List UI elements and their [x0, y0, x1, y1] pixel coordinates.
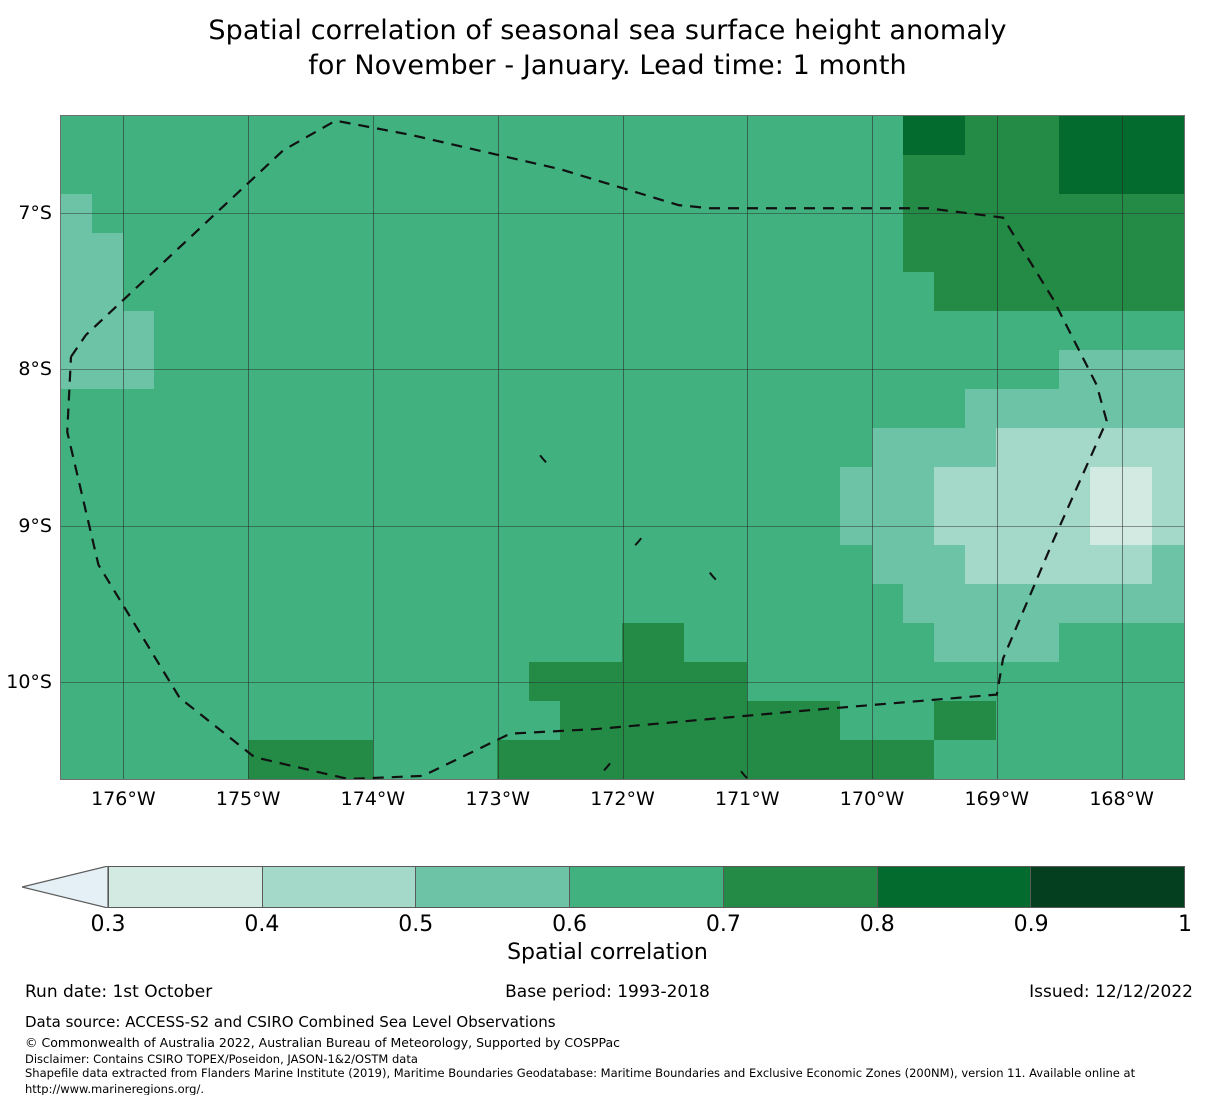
heatmap-cell: [934, 428, 966, 468]
heatmap-cell: [92, 194, 124, 234]
heatmap-cell: [123, 623, 155, 663]
heatmap-cell: [341, 194, 373, 234]
heatmap-cell: [840, 116, 872, 156]
heatmap-cell: [154, 506, 186, 546]
heatmap-cell: [154, 740, 186, 780]
heatmap-cell: [747, 467, 779, 507]
heatmap-cell: [1028, 701, 1060, 741]
heatmap-cell: [996, 233, 1028, 273]
heatmap-cell: [747, 350, 779, 390]
heatmap-cell: [1059, 467, 1091, 507]
heatmap-cell: [965, 662, 997, 702]
heatmap-cell: [778, 428, 810, 468]
heatmap-cell: [809, 311, 841, 351]
heatmap-cell: [217, 311, 249, 351]
heatmap-cell: [61, 389, 93, 429]
heatmap-cell: [248, 584, 280, 624]
heatmap-cell: [1028, 662, 1060, 702]
heatmap-cell: [903, 740, 935, 780]
heatmap-cell: [185, 467, 217, 507]
heatmap-cell: [653, 467, 685, 507]
heatmap-cell: [1028, 272, 1060, 312]
heatmap-cell: [185, 701, 217, 741]
heatmap-cell: [1059, 155, 1091, 195]
heatmap-cell: [123, 662, 155, 702]
heatmap-cell: [809, 584, 841, 624]
map-plot-area[interactable]: [60, 115, 1185, 780]
heatmap-cell: [248, 311, 280, 351]
heatmap-cell: [653, 155, 685, 195]
heatmap-cell: [1121, 623, 1153, 663]
heatmap-cell: [248, 506, 280, 546]
heatmap-cell: [404, 428, 436, 468]
heatmap-cell: [560, 623, 592, 663]
heatmap-cell: [154, 584, 186, 624]
heatmap-cell: [840, 467, 872, 507]
heatmap-cell: [591, 545, 623, 585]
heatmap-cell: [747, 272, 779, 312]
heatmap-cell: [872, 389, 904, 429]
heatmap-cell: [903, 545, 935, 585]
heatmap-cell: [248, 701, 280, 741]
heatmap-cell: [778, 350, 810, 390]
heatmap-cell: [123, 233, 155, 273]
y-tick-label: 7°S: [0, 202, 52, 224]
heatmap-cell: [684, 155, 716, 195]
heatmap-cell: [404, 116, 436, 156]
heatmap-cell: [903, 467, 935, 507]
heatmap-cell: [996, 662, 1028, 702]
heatmap-cell: [778, 194, 810, 234]
heatmap-cell: [1028, 428, 1060, 468]
heatmap-cell: [1090, 428, 1122, 468]
heatmap-cell: [591, 701, 623, 741]
heatmap-cell: [872, 311, 904, 351]
heatmap-cell: [1028, 350, 1060, 390]
colorbar-band: [877, 867, 1031, 907]
heatmap-cell: [653, 194, 685, 234]
heatmap-cell: [840, 506, 872, 546]
heatmap-cell: [716, 467, 748, 507]
heatmap-cell: [341, 233, 373, 273]
heatmap-cell: [466, 545, 498, 585]
heatmap-cell: [1028, 506, 1060, 546]
heatmap-cell: [1152, 584, 1184, 624]
heatmap-cell: [778, 623, 810, 663]
heatmap-cell: [1059, 662, 1091, 702]
heatmap-cell: [310, 662, 342, 702]
heatmap-cell: [497, 194, 529, 234]
heatmap-cell: [154, 623, 186, 663]
heatmap-cell: [310, 701, 342, 741]
heatmap-cell: [684, 701, 716, 741]
heatmap-cell: [965, 350, 997, 390]
heatmap-cell: [404, 584, 436, 624]
heatmap-cell: [123, 116, 155, 156]
heatmap-cell: [185, 389, 217, 429]
heatmap-cell: [872, 584, 904, 624]
heatmap-cell: [778, 272, 810, 312]
heatmap-cell: [965, 389, 997, 429]
heatmap-cell: [996, 584, 1028, 624]
heatmap-cell: [279, 467, 311, 507]
heatmap-cell: [778, 545, 810, 585]
heatmap-cell: [92, 506, 124, 546]
heatmap-cell: [1090, 545, 1122, 585]
heatmap-cell: [560, 194, 592, 234]
heatmap-cell: [497, 467, 529, 507]
heatmap-cell: [934, 467, 966, 507]
heatmap-cell: [61, 155, 93, 195]
heatmap-cell: [529, 233, 561, 273]
heatmap-cell: [903, 350, 935, 390]
heatmap-cell: [809, 662, 841, 702]
heatmap-cell: [747, 311, 779, 351]
heatmap-cell: [466, 350, 498, 390]
heatmap-cell: [123, 155, 155, 195]
heatmap-cell: [747, 545, 779, 585]
heatmap-cell: [154, 701, 186, 741]
heatmap-cell: [185, 155, 217, 195]
heatmap-cell: [622, 701, 654, 741]
heatmap-cell: [934, 662, 966, 702]
heatmap-cell: [248, 116, 280, 156]
heatmap-cell: [217, 623, 249, 663]
heatmap-cell: [872, 506, 904, 546]
heatmap-cell: [123, 311, 155, 351]
heatmap-cell: [466, 194, 498, 234]
heatmap-cell: [1121, 311, 1153, 351]
heatmap-cell: [1028, 389, 1060, 429]
heatmap-cell: [497, 350, 529, 390]
heatmap-cell: [872, 701, 904, 741]
heatmap-cell: [560, 740, 592, 780]
heatmap-cell: [965, 623, 997, 663]
heatmap-cell: [185, 272, 217, 312]
heatmap-cell: [622, 506, 654, 546]
heatmap-cell: [1090, 116, 1122, 156]
heatmap-cell: [591, 311, 623, 351]
colorbar-gradient[interactable]: [108, 866, 1185, 908]
heatmap-cell: [435, 740, 467, 780]
heatmap-cell: [965, 506, 997, 546]
heatmap-cell: [1059, 584, 1091, 624]
heatmap-cell: [1152, 740, 1184, 780]
heatmap-cell: [92, 545, 124, 585]
heatmap-cell: [185, 350, 217, 390]
heatmap-cell: [248, 389, 280, 429]
heatmap-cell: [653, 545, 685, 585]
heatmap-cell: [310, 584, 342, 624]
heatmap-cell: [653, 350, 685, 390]
heatmap-cell: [840, 701, 872, 741]
heatmap-cell: [1059, 740, 1091, 780]
heatmap-cell: [404, 155, 436, 195]
colorbar-band: [569, 867, 723, 907]
correlation-heatmap: [61, 116, 1184, 779]
heatmap-cell: [684, 116, 716, 156]
heatmap-cell: [466, 428, 498, 468]
heatmap-cell: [996, 623, 1028, 663]
heatmap-cell: [497, 545, 529, 585]
heatmap-cell: [1059, 545, 1091, 585]
heatmap-cell: [622, 545, 654, 585]
heatmap-cell: [404, 311, 436, 351]
heatmap-cell: [840, 194, 872, 234]
heatmap-cell: [154, 272, 186, 312]
heatmap-cell: [373, 545, 405, 585]
heatmap-cell: [185, 662, 217, 702]
heatmap-cell: [497, 584, 529, 624]
heatmap-cell: [622, 584, 654, 624]
heatmap-cell: [529, 428, 561, 468]
y-tick-label: 8°S: [0, 358, 52, 380]
heatmap-cell: [1090, 233, 1122, 273]
title-line-2: for November - January. Lead time: 1 mon…: [0, 49, 1215, 84]
heatmap-cell: [965, 116, 997, 156]
heatmap-cell: [684, 233, 716, 273]
heatmap-cell: [341, 428, 373, 468]
heatmap-cell: [778, 701, 810, 741]
heatmap-cell: [404, 389, 436, 429]
heatmap-cell: [684, 272, 716, 312]
heatmap-cell: [778, 233, 810, 273]
heatmap-cell: [809, 545, 841, 585]
heatmap-cell: [716, 428, 748, 468]
heatmap-cell: [591, 740, 623, 780]
heatmap-cell: [684, 623, 716, 663]
heatmap-cell: [934, 155, 966, 195]
heatmap-cell: [404, 272, 436, 312]
heatmap-cell: [653, 701, 685, 741]
heatmap-cell: [248, 272, 280, 312]
heatmap-cell: [529, 311, 561, 351]
heatmap-cell: [1090, 194, 1122, 234]
heatmap-cell: [996, 467, 1028, 507]
heatmap-cell: [778, 311, 810, 351]
heatmap-cell: [1152, 506, 1184, 546]
heatmap-cell: [560, 311, 592, 351]
heatmap-cell: [123, 545, 155, 585]
heatmap-cell: [1059, 350, 1091, 390]
heatmap-cell: [341, 311, 373, 351]
heatmap-cell: [622, 155, 654, 195]
heatmap-cell: [92, 467, 124, 507]
heatmap-cell: [61, 740, 93, 780]
heatmap-cell: [965, 428, 997, 468]
heatmap-cell: [684, 428, 716, 468]
heatmap-cell: [1090, 311, 1122, 351]
heatmap-cell: [123, 389, 155, 429]
copyright-text: © Commonwealth of Australia 2022, Austra…: [25, 1035, 1205, 1051]
heatmap-cell: [716, 740, 748, 780]
heatmap-cell: [591, 194, 623, 234]
heatmap-cell: [373, 506, 405, 546]
heatmap-cell: [934, 545, 966, 585]
heatmap-cell: [778, 506, 810, 546]
heatmap-cell: [1028, 194, 1060, 234]
heatmap-cell: [872, 116, 904, 156]
heatmap-cell: [747, 623, 779, 663]
heatmap-cell: [903, 311, 935, 351]
heatmap-cell: [279, 740, 311, 780]
heatmap-cell: [747, 662, 779, 702]
heatmap-cell: [653, 116, 685, 156]
heatmap-cell: [185, 194, 217, 234]
shapefile-text: Shapefile data extracted from Flanders M…: [25, 1066, 1205, 1082]
heatmap-cell: [61, 194, 93, 234]
heatmap-cell: [684, 311, 716, 351]
colorbar-container: 0.30.40.50.60.70.80.91 Spatial correlati…: [0, 866, 1215, 966]
heatmap-cell: [840, 584, 872, 624]
heatmap-cell: [1121, 194, 1153, 234]
heatmap-cell: [1152, 194, 1184, 234]
heatmap-cell: [560, 233, 592, 273]
heatmap-cell: [185, 506, 217, 546]
heatmap-cell: [466, 155, 498, 195]
heatmap-cell: [1121, 155, 1153, 195]
heatmap-cell: [373, 233, 405, 273]
heatmap-cell: [622, 116, 654, 156]
heatmap-cell: [1152, 701, 1184, 741]
heatmap-cell: [1059, 389, 1091, 429]
heatmap-cell: [92, 311, 124, 351]
heatmap-cell: [653, 233, 685, 273]
heatmap-cell: [684, 662, 716, 702]
colorbar-tick-label: 0.7: [683, 912, 763, 937]
heatmap-cell: [965, 740, 997, 780]
heatmap-cell: [373, 584, 405, 624]
heatmap-cell: [92, 155, 124, 195]
heatmap-cell: [279, 545, 311, 585]
heatmap-cell: [622, 272, 654, 312]
heatmap-cell: [778, 584, 810, 624]
heatmap-cell: [61, 350, 93, 390]
heatmap-cell: [341, 272, 373, 312]
heatmap-cell: [716, 116, 748, 156]
heatmap-cell: [123, 584, 155, 624]
heatmap-cell: [92, 662, 124, 702]
heatmap-cell: [996, 116, 1028, 156]
heatmap-cell: [903, 662, 935, 702]
heatmap-cell: [872, 623, 904, 663]
heatmap-cell: [279, 311, 311, 351]
heatmap-cell: [466, 701, 498, 741]
heatmap-cell: [653, 428, 685, 468]
heatmap-cell: [529, 584, 561, 624]
colorbar-band: [109, 867, 262, 907]
heatmap-cell: [279, 506, 311, 546]
heatmap-cell: [1028, 545, 1060, 585]
heatmap-cell: [560, 272, 592, 312]
heatmap-cell: [435, 662, 467, 702]
heatmap-cell: [1028, 233, 1060, 273]
heatmap-cell: [466, 584, 498, 624]
heatmap-cell: [497, 272, 529, 312]
heatmap-cell: [310, 155, 342, 195]
heatmap-cell: [934, 506, 966, 546]
heatmap-cell: [217, 272, 249, 312]
heatmap-cell: [1121, 233, 1153, 273]
heatmap-cell: [965, 545, 997, 585]
heatmap-cell: [903, 194, 935, 234]
heatmap-cell: [684, 740, 716, 780]
heatmap-cell: [903, 506, 935, 546]
heatmap-cell: [217, 506, 249, 546]
heatmap-cell: [279, 701, 311, 741]
heatmap-cell: [965, 272, 997, 312]
heatmap-cell: [497, 233, 529, 273]
heatmap-cell: [903, 272, 935, 312]
heatmap-cell: [529, 467, 561, 507]
heatmap-cell: [435, 623, 467, 663]
heatmap-cell: [1059, 311, 1091, 351]
heatmap-cell: [622, 194, 654, 234]
heatmap-cell: [622, 467, 654, 507]
heatmap-cell: [310, 194, 342, 234]
heatmap-cell: [435, 506, 467, 546]
heatmap-cell: [996, 506, 1028, 546]
heatmap-cell: [1152, 116, 1184, 156]
heatmap-cell: [310, 116, 342, 156]
heatmap-cell: [154, 350, 186, 390]
heatmap-cell: [1090, 662, 1122, 702]
heatmap-cell: [92, 233, 124, 273]
heatmap-cell: [809, 506, 841, 546]
heatmap-cell: [1090, 506, 1122, 546]
heatmap-cell: [934, 584, 966, 624]
heatmap-cell: [373, 467, 405, 507]
heatmap-cell: [404, 350, 436, 390]
colorbar-band: [1030, 867, 1184, 907]
heatmap-cell: [185, 116, 217, 156]
heatmap-cell: [809, 389, 841, 429]
heatmap-cell: [809, 701, 841, 741]
heatmap-cell: [591, 428, 623, 468]
heatmap-cell: [747, 233, 779, 273]
heatmap-cell: [809, 155, 841, 195]
heatmap-cell: [248, 623, 280, 663]
heatmap-cell: [591, 272, 623, 312]
x-tick-label: 169°W: [952, 788, 1042, 810]
heatmap-cell: [1121, 506, 1153, 546]
heatmap-cell: [123, 272, 155, 312]
heatmap-cell: [248, 350, 280, 390]
heatmap-cell: [560, 116, 592, 156]
heatmap-cell: [903, 155, 935, 195]
heatmap-cell: [809, 116, 841, 156]
heatmap-cell: [92, 701, 124, 741]
heatmap-cell: [560, 155, 592, 195]
heatmap-cell: [279, 389, 311, 429]
heatmap-cell: [872, 545, 904, 585]
heatmap-cell: [217, 194, 249, 234]
heatmap-cell: [92, 116, 124, 156]
heatmap-cell: [310, 350, 342, 390]
heatmap-cell: [404, 506, 436, 546]
heatmap-cell: [341, 350, 373, 390]
heatmap-cell: [497, 311, 529, 351]
heatmap-cell: [778, 662, 810, 702]
heatmap-cell: [872, 662, 904, 702]
heatmap-cell: [341, 116, 373, 156]
heatmap-cell: [435, 350, 467, 390]
heatmap-cell: [560, 350, 592, 390]
heatmap-cell: [217, 584, 249, 624]
heatmap-cell: [435, 116, 467, 156]
heatmap-cell: [996, 545, 1028, 585]
heatmap-cell: [279, 584, 311, 624]
